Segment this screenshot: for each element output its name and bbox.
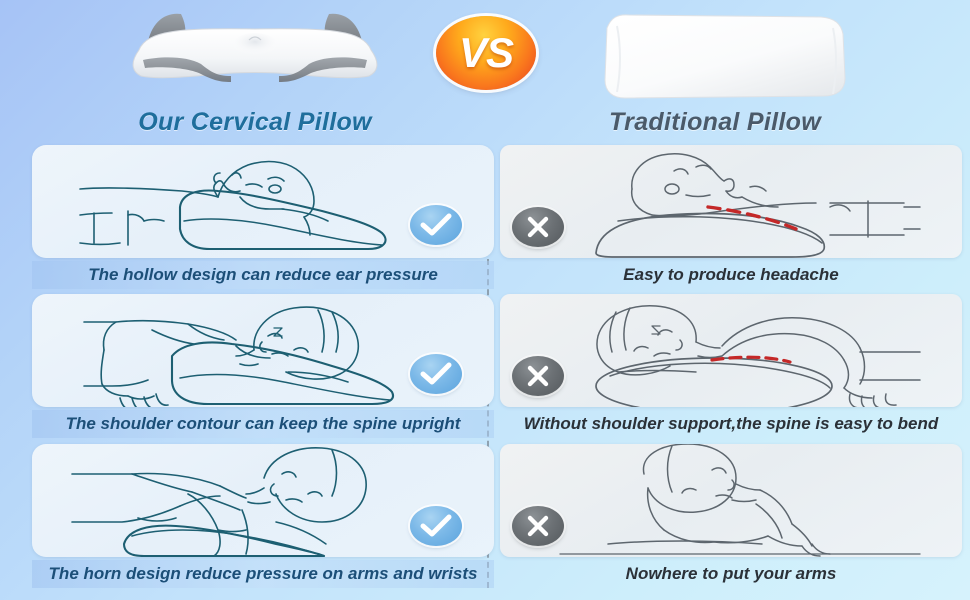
check-icon <box>410 506 462 546</box>
cross-badge <box>512 356 564 396</box>
caption-left-2: The shoulder contour can keep the spine … <box>32 410 494 438</box>
comparison-infographic: Our Cervical Pillow Traditional Pillow V… <box>0 0 970 600</box>
comparison-row-1: The hollow design can reduce ear pressur… <box>0 145 970 291</box>
check-icon <box>410 354 462 394</box>
illustration-panel-right-3 <box>500 444 962 557</box>
right-product-title: Traditional Pillow <box>505 108 925 137</box>
check-badge <box>410 354 462 394</box>
comparison-row-2: The shoulder contour can keep the spine … <box>0 294 970 440</box>
close-icon <box>512 356 564 396</box>
vs-badge: VS <box>436 16 536 90</box>
check-badge <box>410 506 462 546</box>
illustration-panel-left-3 <box>32 444 494 557</box>
cross-badge <box>512 506 564 546</box>
comparison-row-3: The horn design reduce pressure on arms … <box>0 444 970 590</box>
caption-right-1: Easy to produce headache <box>500 261 962 289</box>
caption-right-3: Nowhere to put your arms <box>500 560 962 588</box>
caption-left-3: The horn design reduce pressure on arms … <box>32 560 494 588</box>
illustration-panel-left-1 <box>32 145 494 258</box>
close-icon <box>512 207 564 247</box>
left-product-title: Our Cervical Pillow <box>45 108 465 137</box>
header: Our Cervical Pillow Traditional Pillow V… <box>0 0 970 145</box>
illustration-panel-right-2 <box>500 294 962 407</box>
illustration-panel-right-1 <box>500 145 962 258</box>
cross-badge <box>512 207 564 247</box>
close-icon <box>512 506 564 546</box>
caption-left-1: The hollow design can reduce ear pressur… <box>32 261 494 289</box>
cervical-pillow-photo <box>45 4 465 109</box>
traditional-pillow-photo <box>505 4 925 109</box>
check-badge <box>410 205 462 245</box>
vs-label: VS <box>436 16 536 90</box>
caption-right-2: Without shoulder support,the spine is ea… <box>500 410 962 438</box>
illustration-panel-left-2 <box>32 294 494 407</box>
check-icon <box>410 205 462 245</box>
